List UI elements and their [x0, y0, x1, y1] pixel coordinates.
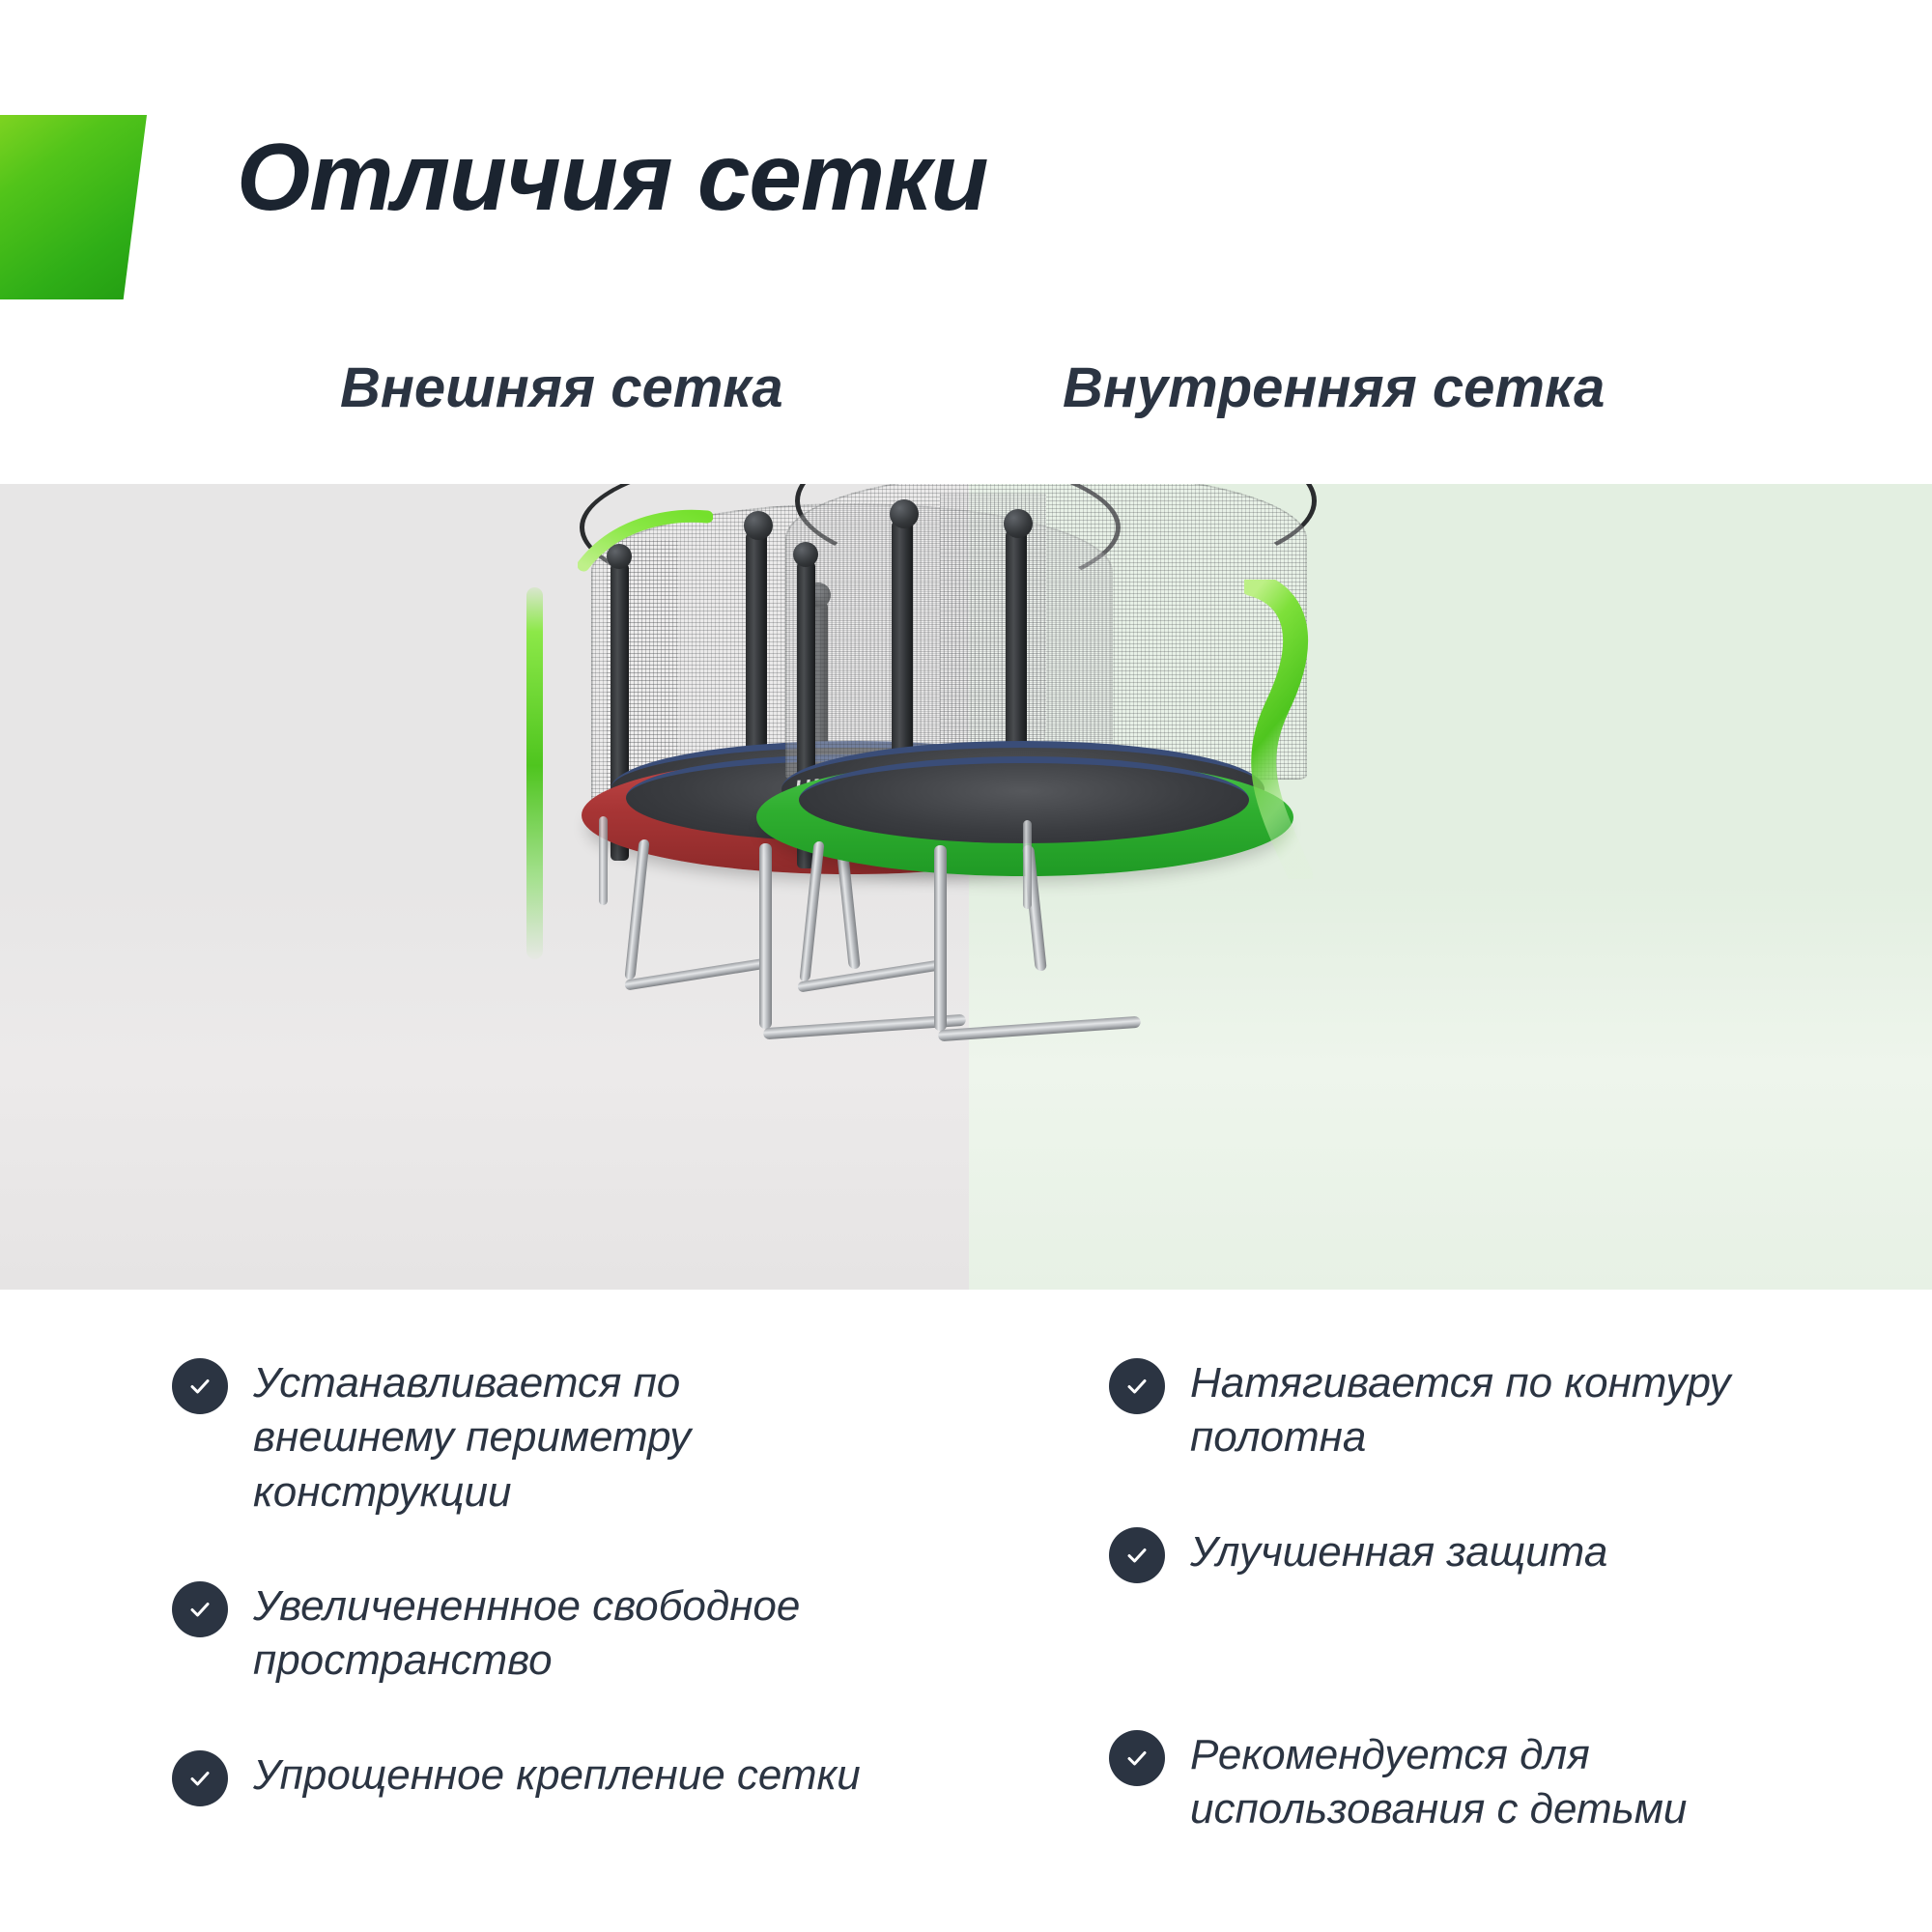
- check-icon: [1109, 1730, 1165, 1786]
- list-item-label: Рекомендуется для использования с детьми: [1190, 1728, 1828, 1837]
- page-title: Отличия сетки: [237, 123, 988, 232]
- check-icon: [172, 1750, 228, 1806]
- list-item: Упрощенное крепление сетки: [172, 1748, 906, 1806]
- list-item: Улучшенная защита: [1109, 1525, 1843, 1583]
- net-pole-cap-right-3: [1004, 509, 1033, 538]
- list-item: Устанавливается по внешнему периметру ко…: [172, 1356, 906, 1520]
- green-accent-arc-icon: [578, 509, 713, 577]
- check-icon: [1109, 1527, 1165, 1583]
- frame-foot-right-2: [938, 1016, 1141, 1042]
- column-heading-outer: Внешняя сетка: [340, 355, 783, 420]
- green-accent-bar-icon: [526, 587, 543, 959]
- frame-leg-right-2: [934, 845, 947, 1031]
- feature-list-inner: Натягивается по контуру полотна Улучшенн…: [1109, 1356, 1843, 1896]
- list-item-label: Натягивается по контуру полотна: [1190, 1356, 1828, 1465]
- list-item-label: Увеличененнное свободное пространство: [253, 1579, 891, 1689]
- safety-net-right-inner-flap: [940, 494, 1046, 774]
- safety-net-right: [785, 484, 1307, 780]
- list-item: Натягивается по контуру полотна: [1109, 1356, 1843, 1465]
- net-pole-cap-right-1: [890, 499, 919, 528]
- check-icon: [1109, 1358, 1165, 1414]
- net-pole-cap-right-2: [793, 542, 818, 567]
- comparison-panel: UNIX UNIX: [0, 484, 1932, 1290]
- column-heading-inner: Внутренняя сетка: [1063, 355, 1605, 420]
- list-item-label: Устанавливается по внешнему периметру ко…: [253, 1356, 891, 1520]
- infographic-page: Отличия сетки Внешняя сетка Внутренняя с…: [0, 0, 1932, 1932]
- check-icon: [172, 1358, 228, 1414]
- list-item: Рекомендуется для использования с детьми: [1109, 1728, 1843, 1837]
- green-accent-ribbon-icon: [1244, 580, 1370, 879]
- list-item: Увеличененнное свободное пространство: [172, 1579, 906, 1689]
- net-pole-cap-left-2: [744, 511, 773, 540]
- check-icon: [172, 1581, 228, 1637]
- frame-leg-left-1: [624, 839, 649, 980]
- pole-base-left: [599, 816, 608, 905]
- feature-list-outer: Устанавливается по внешнему периметру ко…: [172, 1356, 906, 1866]
- list-item-label: Упрощенное крепление сетки: [253, 1748, 861, 1803]
- frame-foot-left-1: [624, 957, 769, 990]
- list-item-label: Улучшенная защита: [1190, 1525, 1607, 1579]
- trampoline-inner-net: UNIX: [969, 484, 1932, 1290]
- pole-base-right: [1023, 820, 1032, 909]
- frame-leg-left-2: [759, 843, 772, 1029]
- green-accent-tab: [0, 115, 147, 299]
